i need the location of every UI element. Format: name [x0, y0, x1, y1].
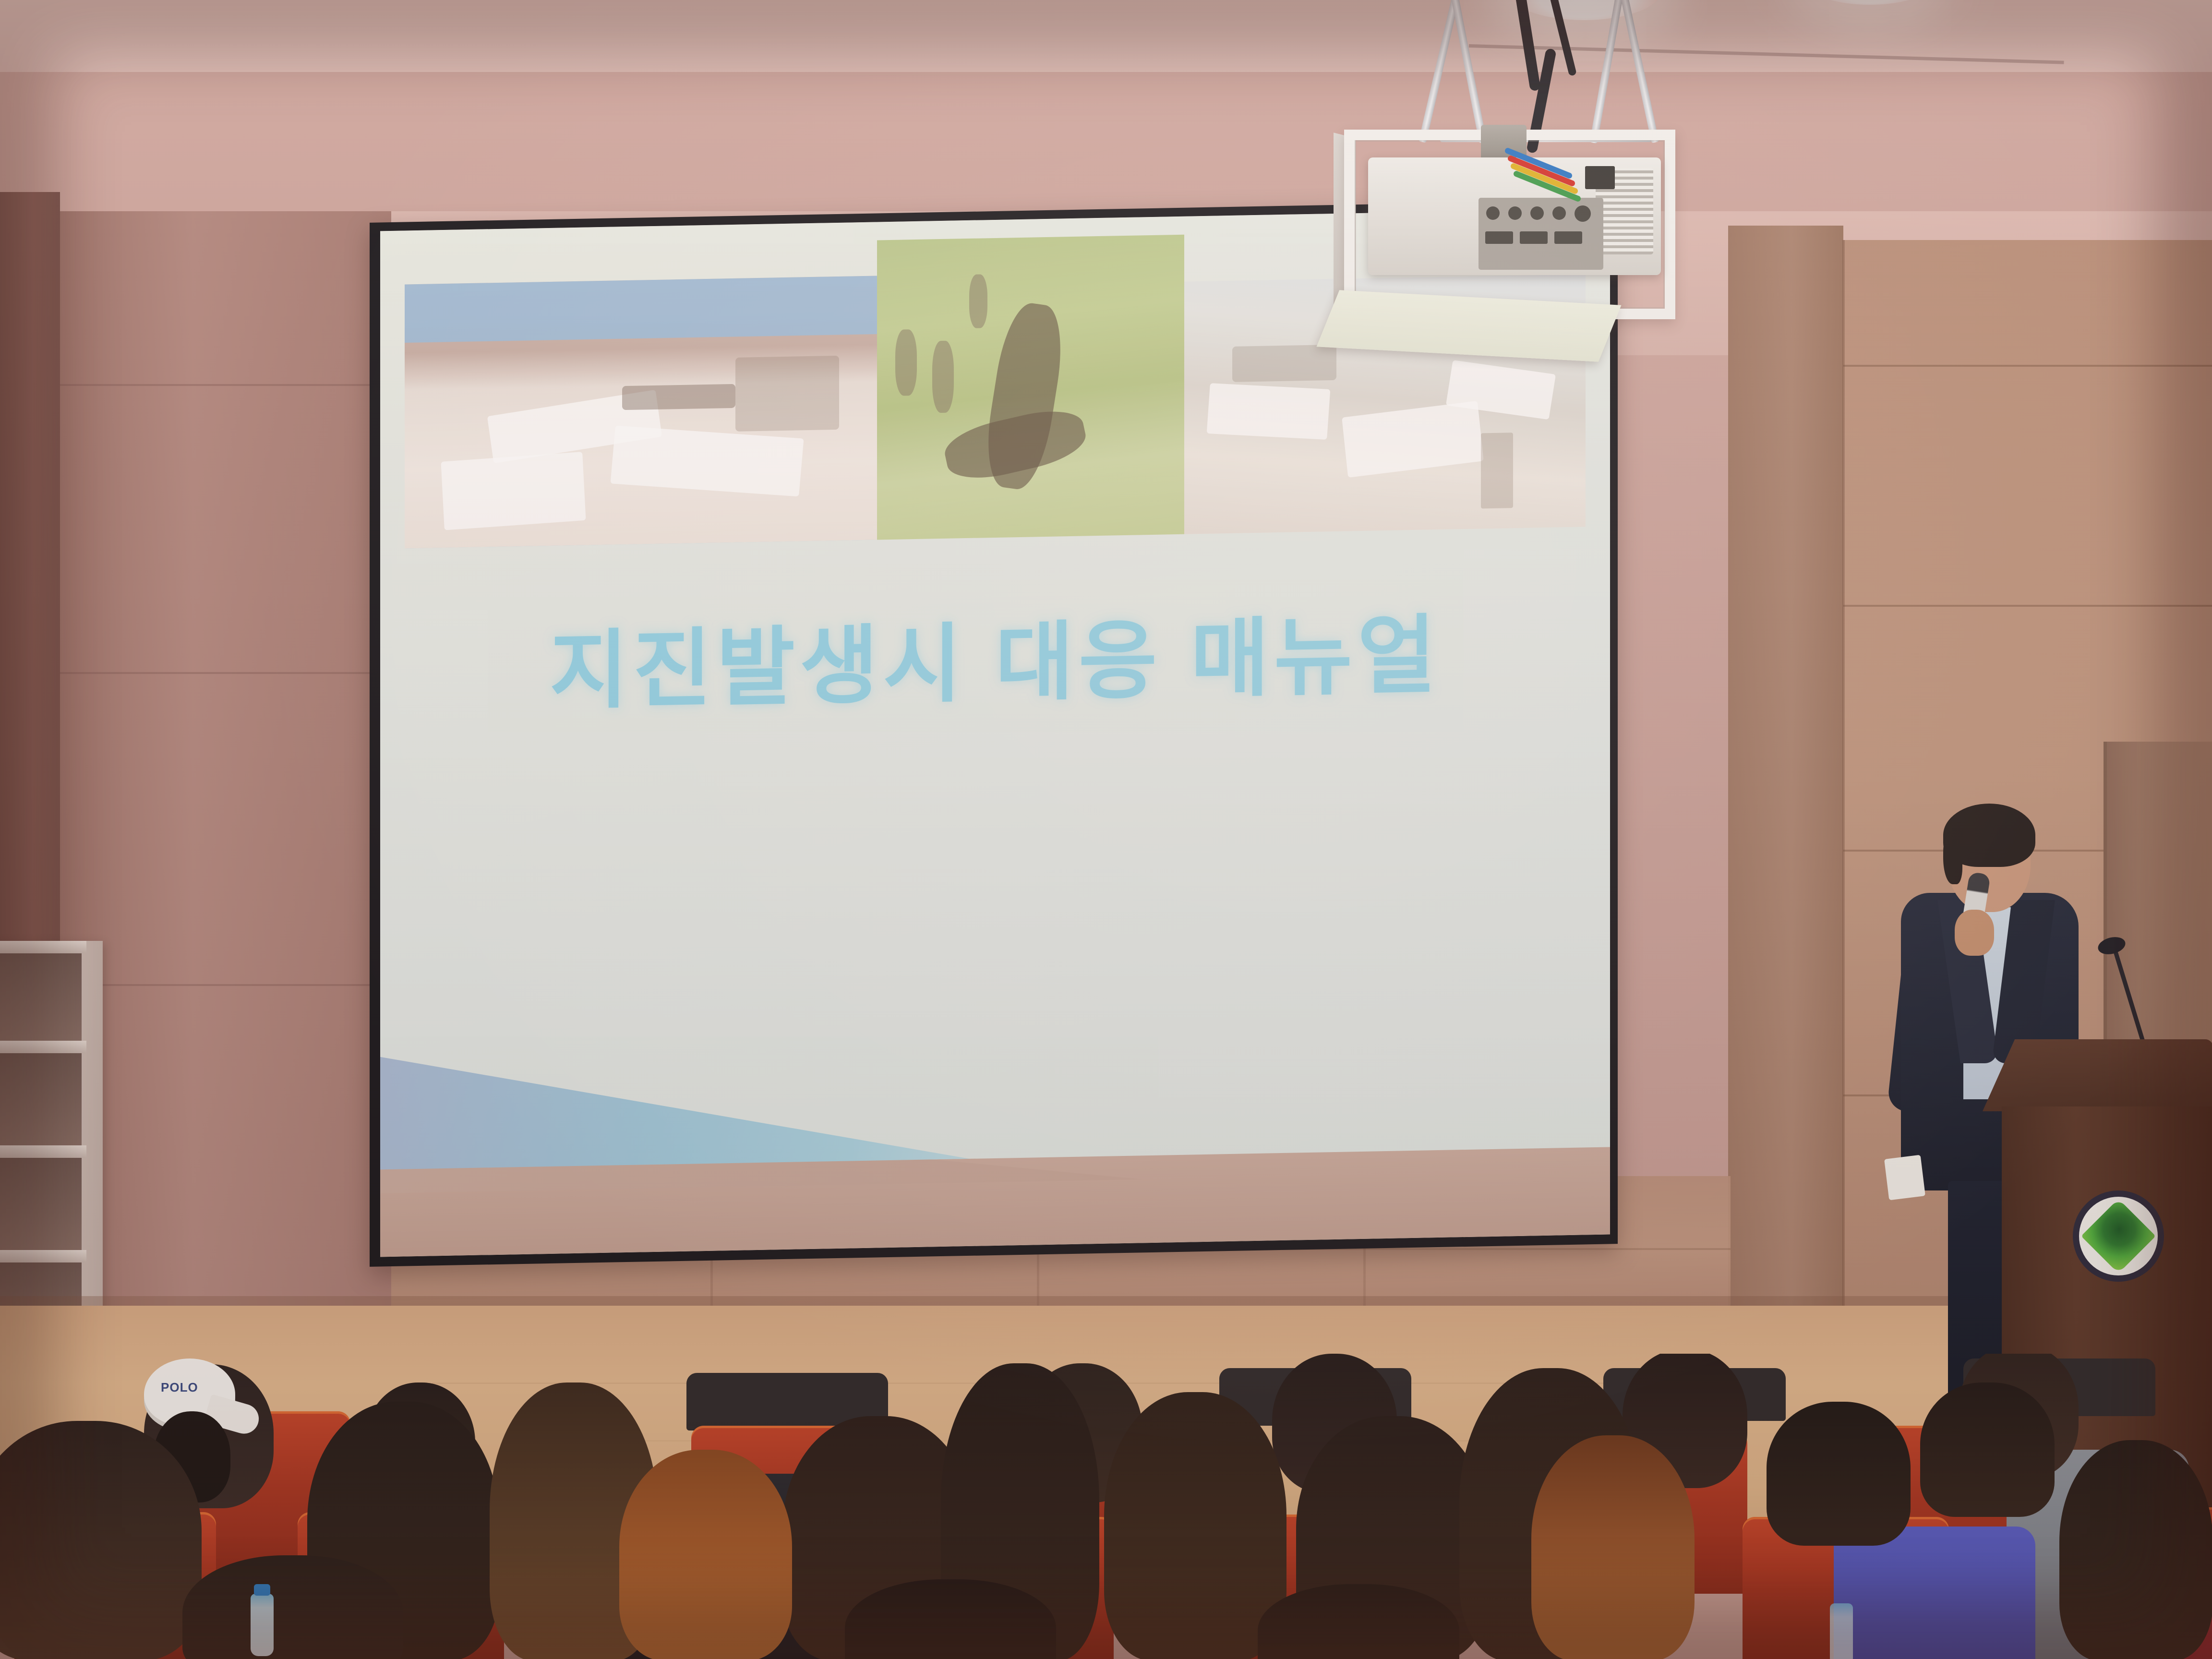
wall-seam — [60, 384, 391, 386]
shelf-board — [0, 1041, 86, 1053]
slide-accent-triangle — [380, 1046, 971, 1170]
slide-photo-rubble — [405, 276, 877, 549]
scissor-lift-arm — [1449, 0, 1487, 143]
presenter-name-tag — [1884, 1155, 1925, 1201]
projector-body — [1368, 157, 1661, 275]
slide-photo-fissure — [877, 235, 1184, 540]
wall-seam — [60, 672, 391, 674]
ceiling-projector — [1296, 0, 1738, 374]
audience-hair — [0, 1421, 202, 1659]
wall-seam — [60, 984, 391, 986]
projector-port-panel — [1479, 198, 1603, 270]
bottle-cap — [254, 1584, 270, 1596]
wood-seam — [1843, 365, 2212, 367]
shelf-gap — [0, 1158, 82, 1250]
university-emblem — [2073, 1190, 2164, 1282]
slide-title: 지진발생시 대응 매뉴얼 — [380, 583, 1610, 729]
presenter-hand — [1955, 910, 1994, 956]
shelf-unit — [0, 941, 103, 1354]
scissor-lift-arm — [1619, 0, 1659, 143]
audience: POLO — [0, 1354, 2212, 1659]
cap-logo-text: POLO — [161, 1380, 198, 1395]
audience-head — [1767, 1402, 1911, 1546]
water-bottle[interactable] — [251, 1594, 274, 1656]
wood-seam — [1843, 605, 2212, 607]
audience-hair-dyed — [619, 1450, 792, 1659]
audience-head — [1920, 1382, 2055, 1517]
auditorium-scene: 지진발생시 대응 매뉴얼 — [0, 0, 2212, 1659]
audience-hair — [1104, 1392, 1286, 1659]
wall-pilaster-light — [60, 211, 391, 1310]
shelf-board — [0, 1145, 86, 1158]
audience-hair — [2059, 1440, 2212, 1659]
scissor-lift-arm — [1589, 0, 1624, 144]
audience-hair — [182, 1555, 403, 1659]
emblem-mark-icon — [2081, 1199, 2156, 1274]
audience-shoulders — [1834, 1527, 2035, 1659]
shelf-board — [0, 941, 86, 953]
presenter-hair — [1943, 831, 1962, 884]
audience-hair-dyed — [1531, 1435, 1695, 1659]
shelf-gap — [0, 953, 82, 1041]
wood-seam — [1842, 240, 1845, 1310]
podium-top-surface — [1983, 1039, 2212, 1111]
water-bottle[interactable] — [1830, 1603, 1853, 1659]
projector-cable — [1513, 0, 1541, 91]
shelf-gap — [0, 1053, 82, 1145]
shelf-board — [0, 1250, 86, 1262]
wood-panel-column — [1728, 226, 1843, 1310]
